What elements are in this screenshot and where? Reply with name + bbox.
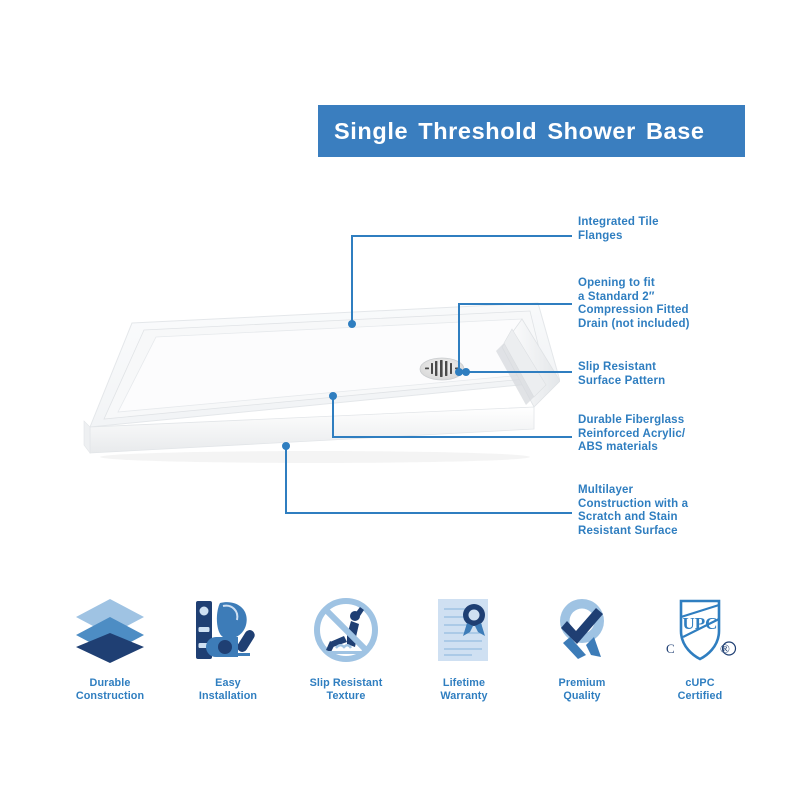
- feature-label: Premium Quality: [559, 677, 606, 703]
- tools-icon: [182, 592, 274, 668]
- feature-slip-resistant-texture: Slip Resistant Texture: [291, 592, 401, 703]
- callout-multilayer-construction: Multilayer Construction with a Scratch a…: [578, 484, 688, 538]
- cupc-shield-icon: UPC C ®: [654, 592, 746, 668]
- page-title: Single Threshold Shower Base: [318, 118, 705, 145]
- title-banner: Single Threshold Shower Base: [318, 105, 745, 157]
- feature-strip: Durable Construction: [55, 592, 755, 717]
- drain-grate: [420, 358, 464, 380]
- callout-slip-resistant-surface: Slip Resistant Surface Pattern: [578, 361, 665, 388]
- feature-lifetime-warranty: Lifetime Warranty: [409, 592, 519, 703]
- callout-durable-materials: Durable Fiberglass Reinforced Acrylic/ A…: [578, 414, 685, 455]
- product-illustration: [60, 295, 560, 485]
- callout-integrated-tile-flanges: Integrated Tile Flanges: [578, 216, 659, 243]
- feature-premium-quality: Premium Quality: [527, 592, 637, 703]
- feature-durable-construction: Durable Construction: [55, 592, 165, 703]
- infographic-canvas: Single Threshold Shower Base: [0, 0, 806, 806]
- feature-easy-installation: Easy Installation: [173, 592, 283, 703]
- feature-cupc-certified: UPC C ® cUPC Certified: [645, 592, 755, 703]
- feature-label: Lifetime Warranty: [440, 677, 487, 703]
- no-slip-icon: [300, 592, 392, 668]
- cupc-left-mark: C: [666, 641, 675, 656]
- certificate-icon: [418, 592, 510, 668]
- layers-icon: [64, 592, 156, 668]
- callout-drain-opening: Opening to fit a Standard 2″ Compression…: [578, 277, 690, 331]
- feature-label: Slip Resistant Texture: [310, 677, 383, 703]
- feature-label: Durable Construction: [76, 677, 144, 703]
- cupc-shield-text: UPC: [683, 614, 718, 633]
- award-check-icon: [536, 592, 628, 668]
- feature-label: cUPC Certified: [678, 677, 723, 703]
- feature-label: Easy Installation: [199, 677, 257, 703]
